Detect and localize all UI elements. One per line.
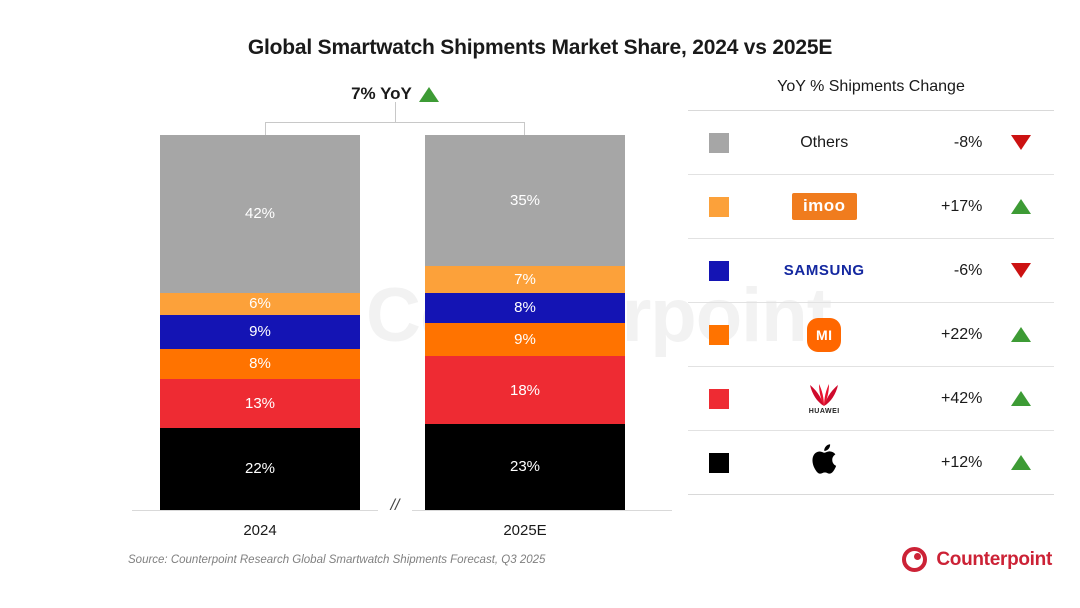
legend-color-swatch — [709, 197, 729, 217]
segment-value-label: 42% — [245, 205, 275, 222]
legend-yoy-value: -8% — [899, 134, 989, 152]
legend-brand-cell: MI — [750, 318, 899, 352]
legend-swatch-cell — [688, 389, 750, 409]
bar-segment-imoo-2024: 6% — [160, 293, 360, 316]
bar-segment-samsung-2025E: 8% — [425, 293, 625, 323]
xiaomi-mi-logo: MI — [807, 318, 841, 352]
legend-direction-cell — [988, 135, 1054, 150]
triangle-up-icon — [1011, 455, 1031, 470]
legend-yoy-value: +12% — [899, 454, 989, 472]
apple-logo — [811, 444, 837, 481]
triangle-down-icon — [1011, 135, 1031, 150]
bar-segment-xiaomi-2024: 8% — [160, 349, 360, 379]
legend-direction-cell — [988, 391, 1054, 406]
legend-row-mi[interactable]: MI+22% — [688, 303, 1054, 367]
bar-segment-apple-2024: 22% — [160, 428, 360, 511]
counterpoint-wordmark: Counterpoint — [936, 549, 1052, 571]
legend-brand-label: Others — [800, 134, 848, 152]
legend-color-swatch — [709, 133, 729, 153]
legend-direction-cell — [988, 263, 1054, 278]
triangle-up-icon — [1011, 199, 1031, 214]
segment-value-label: 9% — [514, 331, 536, 348]
segment-value-label: 35% — [510, 192, 540, 209]
bar-segment-others-2025E: 35% — [425, 135, 625, 266]
huawei-wordmark: HUAWEI — [809, 408, 840, 415]
legend-color-swatch — [709, 325, 729, 345]
legend-title: YoY % Shipments Change — [688, 78, 1054, 110]
bar-segment-samsung-2024: 9% — [160, 315, 360, 349]
legend-brand-cell — [750, 444, 899, 481]
segment-value-label: 18% — [510, 382, 540, 399]
imoo-logo: imoo — [792, 193, 857, 220]
triangle-up-icon — [1011, 391, 1031, 406]
samsung-logo: SAMSUNG — [784, 262, 865, 279]
huawei-flower-icon — [803, 383, 845, 407]
plot-area: 42%6%9%8%13%22% 35%7%8%9%18%23% // 2024 … — [0, 0, 680, 608]
segment-value-label: 23% — [510, 458, 540, 475]
x-tick-label-2024: 2024 — [160, 522, 360, 539]
segment-value-label: 6% — [249, 295, 271, 312]
legend-color-swatch — [709, 389, 729, 409]
bar-segment-xiaomi-2025E: 9% — [425, 323, 625, 357]
bar-segment-huawei-2024: 13% — [160, 379, 360, 428]
legend-swatch-cell — [688, 453, 750, 473]
bar-segment-huawei-2025E: 18% — [425, 356, 625, 424]
source-note: Source: Counterpoint Research Global Sma… — [128, 554, 545, 566]
legend-row-imoo[interactable]: imoo+17% — [688, 175, 1054, 239]
counterpoint-logo: Counterpoint — [902, 547, 1052, 572]
segment-value-label: 22% — [245, 460, 275, 477]
legend-row-huawei[interactable]: HUAWEI+42% — [688, 367, 1054, 431]
legend-swatch-cell — [688, 261, 750, 281]
legend-brand-cell: HUAWEI — [750, 383, 899, 415]
axis-break-icon: // — [378, 492, 412, 520]
segment-value-label: 8% — [249, 355, 271, 372]
legend-swatch-cell — [688, 325, 750, 345]
huawei-logo: HUAWEI — [803, 383, 845, 415]
legend-yoy-value: +17% — [899, 198, 989, 216]
segment-value-label: 7% — [514, 271, 536, 288]
bar-segment-imoo-2025E: 7% — [425, 266, 625, 292]
legend-rows: Others-8%imoo+17%SAMSUNG-6%MI+22%HUAWEI+… — [688, 111, 1054, 495]
legend-swatch-cell — [688, 133, 750, 153]
legend-brand-cell: Others — [750, 134, 899, 152]
bar-segment-others-2024: 42% — [160, 135, 360, 293]
segment-value-label: 13% — [245, 395, 275, 412]
legend-direction-cell — [988, 455, 1054, 470]
stacked-bar-2025: 35%7%8%9%18%23% — [425, 135, 625, 510]
legend-row-apple[interactable]: +12% — [688, 431, 1054, 495]
legend-direction-cell — [988, 199, 1054, 214]
chart-canvas: Counterpoint Global Smartwatch Shipments… — [0, 0, 1080, 608]
triangle-down-icon — [1011, 263, 1031, 278]
apple-logo-icon — [811, 444, 837, 475]
legend-direction-cell — [988, 327, 1054, 342]
triangle-up-icon — [1011, 327, 1031, 342]
legend-brand-cell: SAMSUNG — [750, 262, 899, 279]
bar-segment-apple-2025E: 23% — [425, 424, 625, 510]
legend-color-swatch — [709, 453, 729, 473]
x-tick-label-2025: 2025E — [425, 522, 625, 539]
legend-row-others[interactable]: Others-8% — [688, 111, 1054, 175]
legend-row-samsung[interactable]: SAMSUNG-6% — [688, 239, 1054, 303]
legend-swatch-cell — [688, 197, 750, 217]
legend-yoy-value: +22% — [899, 326, 989, 344]
stacked-bar-2024: 42%6%9%8%13%22% — [160, 135, 360, 510]
legend-yoy-value: -6% — [899, 262, 989, 280]
legend-brand-cell: imoo — [750, 193, 899, 220]
legend-yoy-value: +42% — [899, 390, 989, 408]
legend-color-swatch — [709, 261, 729, 281]
segment-value-label: 9% — [249, 323, 271, 340]
counterpoint-circle-icon — [902, 547, 927, 572]
legend-panel: YoY % Shipments Change Others-8%imoo+17%… — [688, 78, 1054, 495]
segment-value-label: 8% — [514, 299, 536, 316]
